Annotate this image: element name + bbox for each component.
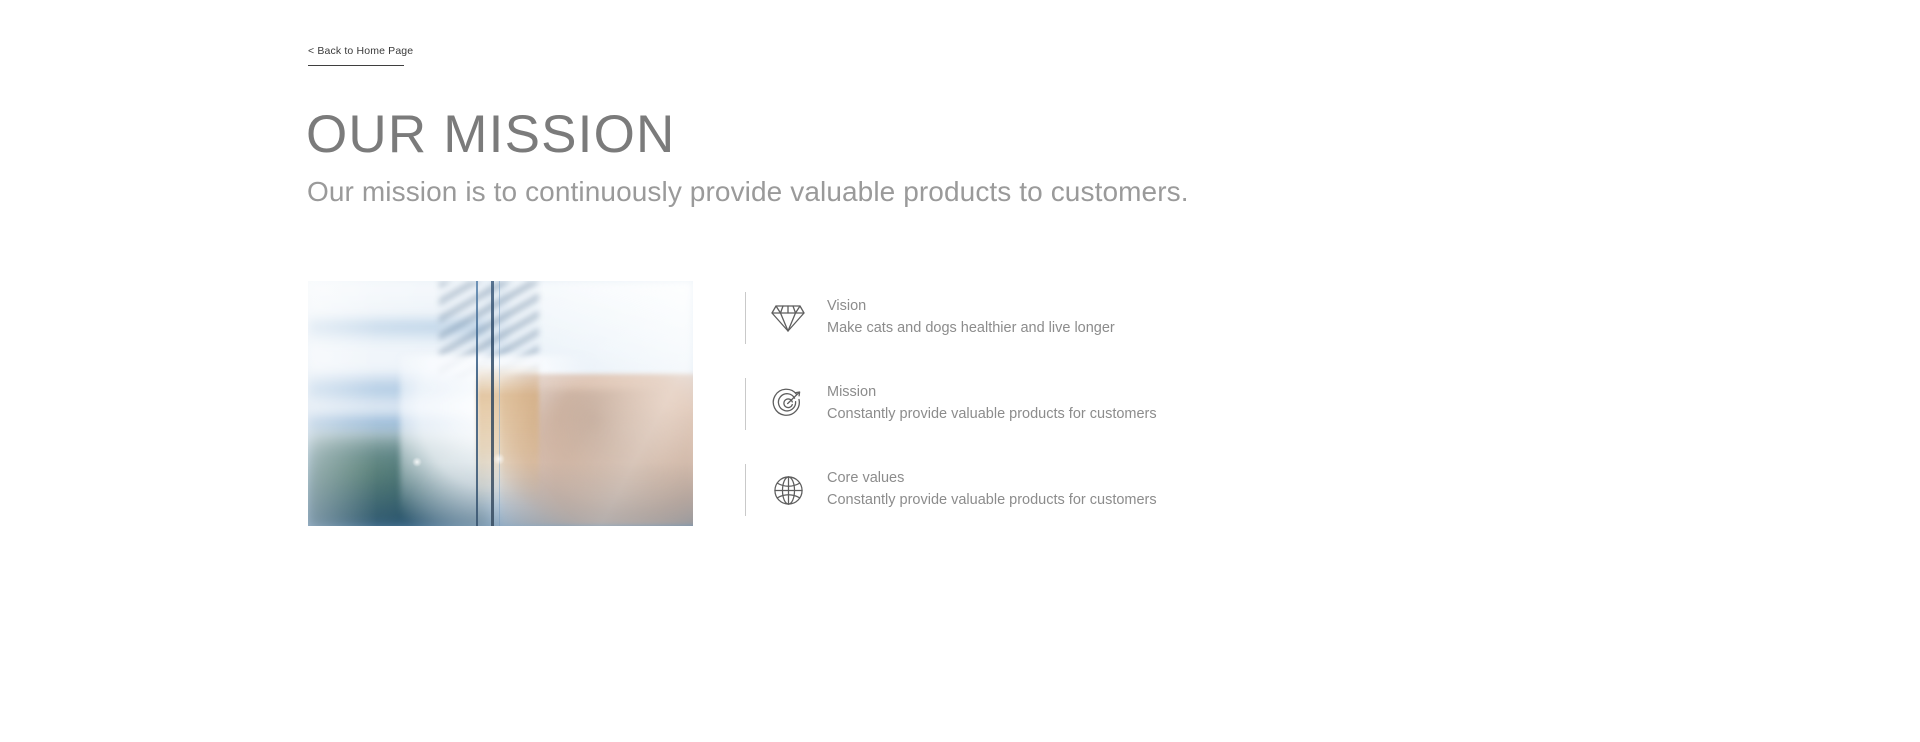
- feature-title: Core values: [827, 468, 1157, 489]
- page-subtitle: Our mission is to continuously provide v…: [307, 172, 1189, 212]
- feature-description: Constantly provide valuable products for…: [827, 403, 1157, 426]
- feature-title: Mission: [827, 382, 1157, 403]
- diamond-icon: [768, 298, 808, 338]
- page-title: OUR MISSION: [306, 104, 676, 166]
- page-root: < Back to Home Page OUR MISSION Our miss…: [0, 0, 1920, 742]
- photo-vignette: [308, 281, 693, 526]
- back-to-home-link-wrapper[interactable]: < Back to Home Page: [308, 44, 404, 66]
- feature-title: Vision: [827, 296, 1115, 317]
- globe-icon: [768, 470, 808, 510]
- back-to-home-link[interactable]: < Back to Home Page: [308, 44, 404, 58]
- feature-text-mission: Mission Constantly provide valuable prod…: [827, 382, 1157, 426]
- feature-text-vision: Vision Make cats and dogs healthier and …: [827, 296, 1115, 340]
- feature-item-vision: Vision Make cats and dogs healthier and …: [745, 292, 1157, 344]
- feature-description: Constantly provide valuable products for…: [827, 489, 1157, 512]
- feature-description: Make cats and dogs healthier and live lo…: [827, 317, 1115, 340]
- feature-text-core-values: Core values Constantly provide valuable …: [827, 468, 1157, 512]
- handshake-photo: [308, 281, 693, 526]
- feature-item-core-values: Core values Constantly provide valuable …: [745, 464, 1157, 516]
- target-icon: [768, 384, 808, 424]
- feature-item-mission: Mission Constantly provide valuable prod…: [745, 378, 1157, 430]
- feature-list: Vision Make cats and dogs healthier and …: [745, 292, 1157, 516]
